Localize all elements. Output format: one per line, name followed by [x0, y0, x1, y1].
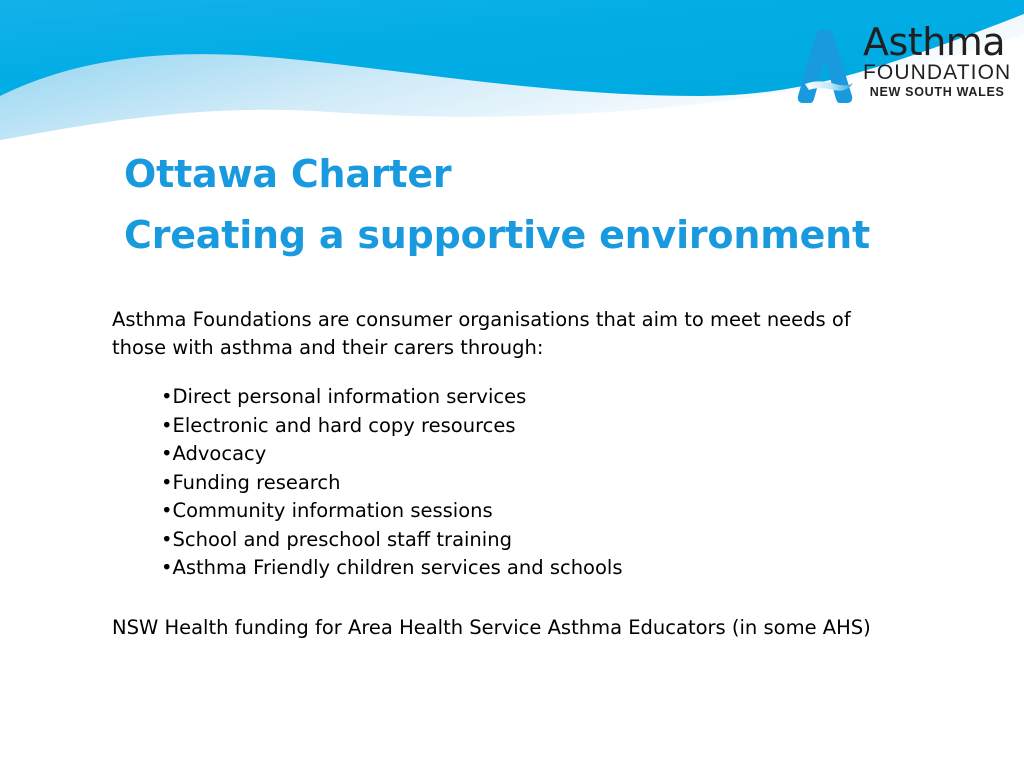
- bullet-glyph: •: [161, 556, 173, 579]
- logo-word-foundation: FOUNDATION: [863, 61, 1011, 84]
- slide-canvas: Asthma FOUNDATION NEW SOUTH WALES Ottawa…: [0, 0, 1024, 768]
- list-item: •Asthma Friendly children services and s…: [161, 554, 912, 583]
- list-item-label: Community information sessions: [173, 499, 493, 522]
- list-item-label: Asthma Friendly children services and sc…: [173, 556, 623, 579]
- list-item: •Electronic and hard copy resources: [161, 412, 912, 441]
- list-item: •School and preschool staff training: [161, 526, 912, 555]
- bullet-glyph: •: [161, 442, 173, 465]
- logo-wordmark: Asthma FOUNDATION NEW SOUTH WALES: [863, 22, 1011, 100]
- list-item-label: School and preschool staff training: [173, 528, 512, 551]
- list-item: •Advocacy: [161, 440, 912, 469]
- slide-title-line-1: Ottawa Charter: [124, 144, 984, 205]
- slide-title-line-2: Creating a supportive environment: [124, 205, 984, 266]
- list-item-label: Advocacy: [173, 442, 267, 465]
- bullet-glyph: •: [161, 385, 173, 408]
- list-item: •Direct personal information services: [161, 383, 912, 412]
- intro-paragraph: Asthma Foundations are consumer organisa…: [112, 306, 887, 362]
- list-item-label: Electronic and hard copy resources: [173, 414, 516, 437]
- bullet-glyph: •: [161, 528, 173, 551]
- closing-paragraph: NSW Health funding for Area Health Servi…: [112, 614, 887, 642]
- list-item-label: Direct personal information services: [173, 385, 527, 408]
- list-item: •Funding research: [161, 469, 912, 498]
- bullet-glyph: •: [161, 471, 173, 494]
- bullet-glyph: •: [161, 499, 173, 522]
- bullet-glyph: •: [161, 414, 173, 437]
- asthma-foundation-logo: Asthma FOUNDATION NEW SOUTH WALES: [795, 22, 1010, 114]
- logo-word-state: NEW SOUTH WALES: [870, 85, 1005, 100]
- list-item-label: Funding research: [173, 471, 341, 494]
- slide-body: Asthma Foundations are consumer organisa…: [112, 306, 912, 642]
- asthma-a-mark-icon: [795, 24, 857, 104]
- logo-word-asthma: Asthma: [863, 22, 1005, 62]
- list-item: •Community information sessions: [161, 497, 912, 526]
- slide-title: Ottawa Charter Creating a supportive env…: [124, 144, 984, 266]
- services-bullet-list: •Direct personal information services •E…: [112, 383, 912, 583]
